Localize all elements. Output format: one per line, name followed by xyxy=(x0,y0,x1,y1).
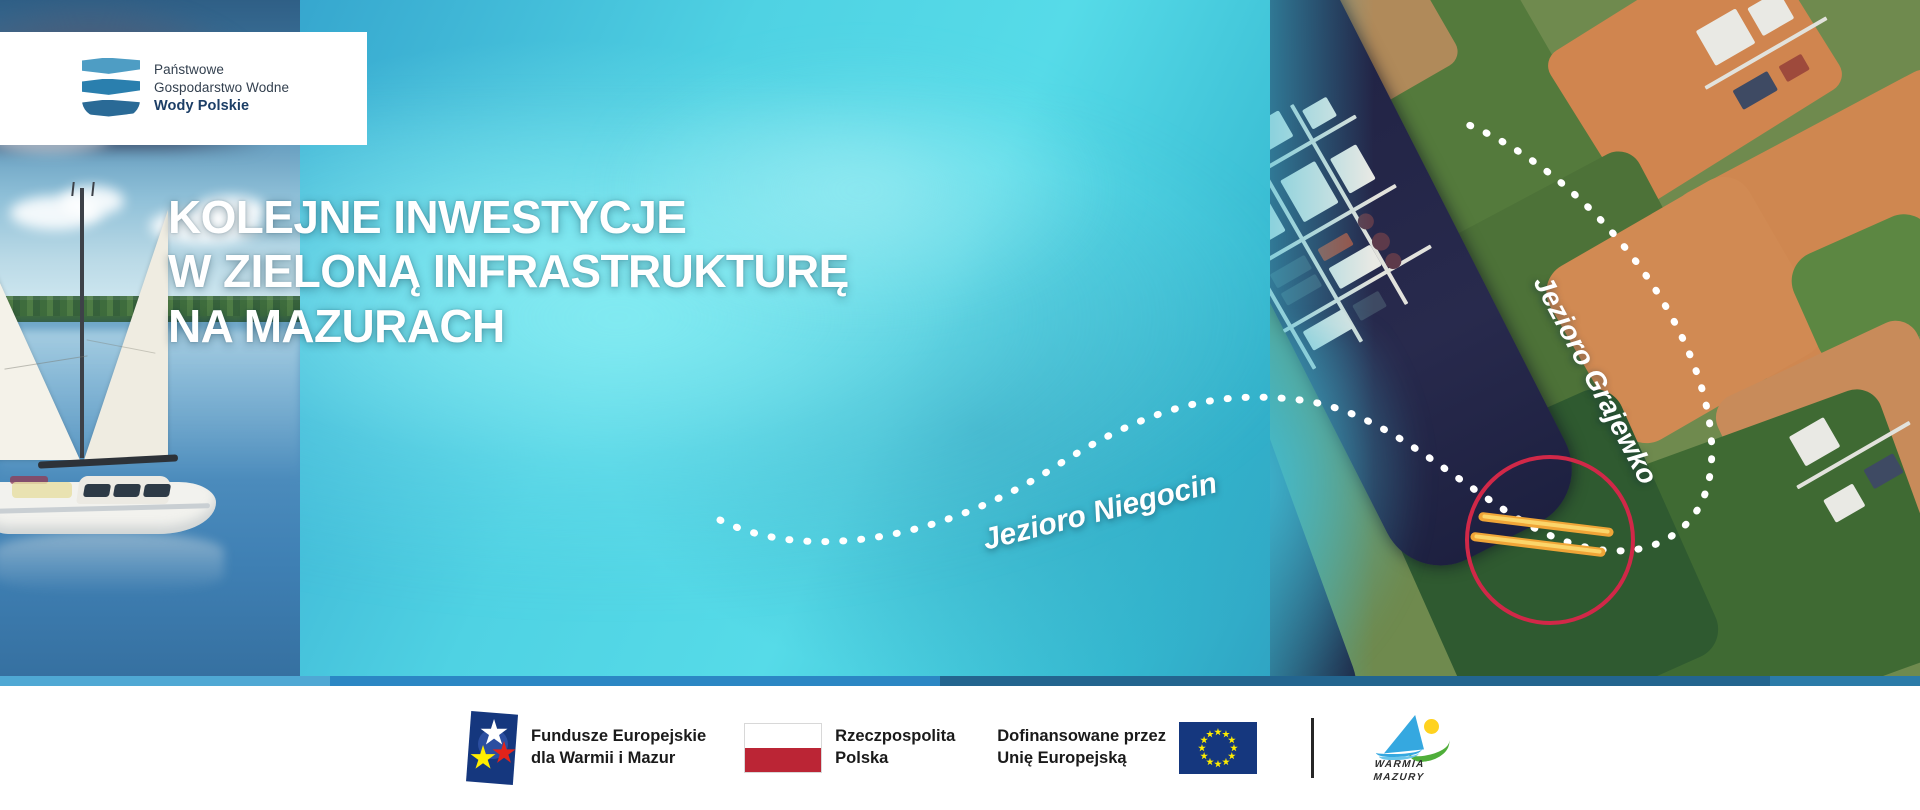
caption-line-1: Rzeczpospolita xyxy=(835,726,955,748)
promo-banner: Jezioro Niegocin Jezioro Grajewko Państw… xyxy=(0,0,1920,810)
warmia-mazury-sail-icon: WARMIA MAZURY xyxy=(1368,709,1454,787)
color-divider-bar xyxy=(0,676,1920,686)
cabin-window xyxy=(113,484,141,497)
star-icon xyxy=(1222,730,1230,738)
caption-line-1: Dofinansowane przez xyxy=(997,726,1166,748)
eu-funds-stars-icon xyxy=(466,711,518,785)
logo-dofinansowane-przez-ue: Dofinansowane przez Unię Europejską xyxy=(997,722,1257,774)
deck-detail xyxy=(12,482,72,498)
mast-top xyxy=(71,182,94,196)
cabin-window xyxy=(83,484,111,497)
water-shield-icon xyxy=(82,58,140,120)
star-icon xyxy=(1206,730,1214,738)
logo-warmia-mazury: WARMIA MAZURY xyxy=(1368,709,1454,787)
logo-text: Państwowe Gospodarstwo Wodne Wody Polski… xyxy=(154,61,289,116)
caption-line-2: Unię Europejską xyxy=(997,748,1166,770)
logo-line-2: Gospodarstwo Wodne xyxy=(154,79,289,97)
star-icon xyxy=(1230,744,1238,752)
star-icon xyxy=(1222,758,1230,766)
poland-flag-icon xyxy=(744,723,822,773)
flag-stripe-white xyxy=(745,724,821,748)
star-icon xyxy=(1228,752,1236,760)
logo-caption: Fundusze Europejskie dla Warmii i Mazur xyxy=(531,726,706,770)
page-title: KOLEJNE INWESTYCJE W ZIELONĄ INFRASTRUKT… xyxy=(168,190,849,353)
divider-line xyxy=(1311,718,1314,778)
cabin-window xyxy=(143,484,171,497)
star-icon xyxy=(1206,758,1214,766)
divider-segment xyxy=(940,676,1770,686)
star-icon xyxy=(1214,760,1222,768)
logo-line-3: Wody Polskie xyxy=(154,97,289,116)
shield-band xyxy=(82,100,140,117)
divider-segment xyxy=(0,676,330,686)
caption-line-1: Fundusze Europejskie xyxy=(531,726,706,748)
main-sail xyxy=(84,210,168,460)
warmia-mazury-wordmark: WARMIA MAZURY xyxy=(1373,759,1426,784)
logo-caption: Dofinansowane przez Unię Europejską xyxy=(997,726,1166,770)
divider-segment xyxy=(330,676,940,686)
headline-line-1: KOLEJNE INWESTYCJE xyxy=(168,190,849,244)
shield-band xyxy=(82,58,140,75)
divider-segment xyxy=(1770,676,1920,686)
sailboat-icon xyxy=(0,300,244,660)
flag-stripe-red xyxy=(745,748,821,772)
boat-reflection xyxy=(0,532,224,594)
star-icon xyxy=(1200,752,1208,760)
wordmark-line-1: WARMIA xyxy=(1374,759,1426,772)
star-icon xyxy=(1214,728,1222,736)
star-icon xyxy=(1200,736,1208,744)
star-icon xyxy=(1198,744,1206,752)
headline-line-2: W ZIELONĄ INFRASTRUKTURĘ xyxy=(168,244,849,298)
funding-logos-footer: Fundusze Europejskie dla Warmii i Mazur … xyxy=(0,686,1920,810)
jib-sail xyxy=(0,230,80,460)
caption-line-2: Polska xyxy=(835,748,955,770)
eu-flag-icon xyxy=(1179,722,1257,774)
logo-caption: Rzeczpospolita Polska xyxy=(835,726,955,770)
shield-band xyxy=(82,79,140,96)
wody-polskie-logo: Państwowe Gospodarstwo Wodne Wody Polski… xyxy=(0,32,367,145)
star-icon xyxy=(1228,736,1236,744)
logo-rzeczpospolita-polska: Rzeczpospolita Polska xyxy=(744,723,955,773)
logo-fundusze-europejskie: Fundusze Europejskie dla Warmii i Mazur xyxy=(466,711,706,785)
wordmark-line-2: MAZURY xyxy=(1373,772,1425,785)
caption-line-2: dla Warmii i Mazur xyxy=(531,748,706,770)
headline-line-3: NA MAZURACH xyxy=(168,299,849,353)
logo-line-1: Państwowe xyxy=(154,61,289,79)
hero-image: Jezioro Niegocin Jezioro Grajewko Państw… xyxy=(0,0,1920,686)
